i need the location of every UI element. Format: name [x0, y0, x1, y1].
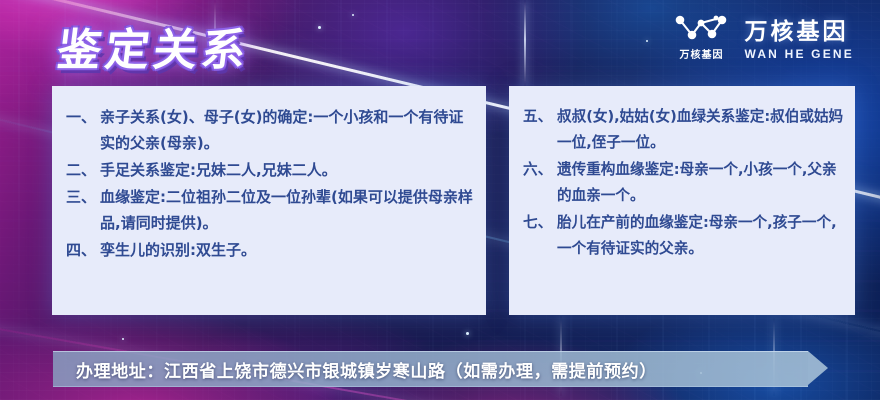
list-item-number: 七、 — [523, 210, 557, 262]
address-banner-text: 办理地址：江西省上饶市德兴市银城镇岁寒山路（如需办理，需提前预约） — [53, 357, 657, 382]
brand-logo-mark-label: 万核基因 — [679, 46, 723, 61]
list-item-number: 二、 — [66, 157, 100, 183]
brand-logo: 万核基因 万核基因 WAN HE GENE — [672, 12, 854, 61]
list-item-text: 胎儿在产前的血缘鉴定:母亲一个,孩子一个,一个有待证实的父亲。 — [557, 210, 845, 262]
dna-molecule-icon — [672, 13, 730, 43]
address-banner: 办理地址：江西省上饶市德兴市银城镇岁寒山路（如需办理，需提前预约） — [53, 351, 808, 387]
spark-icon — [122, 338, 124, 340]
list-item: 六、 遗传重构血缘鉴定:母亲一个,小孩一个,父亲的血亲一个。 — [523, 157, 845, 209]
list-item-text: 血缘鉴定:二位祖孙二位及一位孙辈(如果可以提供母亲样品,请同时提供)。 — [100, 184, 476, 236]
poster-canvas: 鉴定关系 万核基因 — [0, 0, 880, 400]
list-item-number: 六、 — [523, 157, 557, 209]
list-item-number: 一、 — [66, 104, 100, 156]
list-item: 五、 叔叔(女),姑姑(女)血绿关系鉴定:叔伯或姑妈一位,侄子一位。 — [523, 104, 845, 156]
list-item: 二、 手足关系鉴定:兄妹二人,兄妹二人。 — [66, 157, 476, 183]
list-item-number: 五、 — [523, 104, 557, 156]
list-item-text: 亲子关系(女)、母子(女)的确定:一个小孩和一个有待证实的父亲(母亲)。 — [100, 104, 476, 156]
brand-name-en: WAN HE GENE — [744, 47, 854, 61]
brand-wordmark: 万核基因 WAN HE GENE — [744, 12, 854, 61]
service-list-panel-right: 五、 叔叔(女),姑姑(女)血绿关系鉴定:叔伯或姑妈一位,侄子一位。 六、 遗传… — [509, 86, 855, 315]
list-item-number: 三、 — [66, 184, 100, 236]
list-item: 七、 胎儿在产前的血缘鉴定:母亲一个,孩子一个,一个有待证实的父亲。 — [523, 210, 845, 262]
vertical-beam-icon — [524, 0, 526, 88]
address-banner-arrow-icon — [808, 351, 828, 385]
list-item-text: 手足关系鉴定:兄妹二人,兄妹二人。 — [100, 157, 476, 183]
spark-icon — [466, 332, 469, 335]
list-item-text: 孪生儿的识别:双生子。 — [100, 237, 476, 263]
page-title: 鉴定关系 — [54, 14, 254, 78]
list-item: 四、 孪生儿的识别:双生子。 — [66, 237, 476, 263]
list-item-number: 四、 — [66, 237, 100, 263]
list-item-text: 遗传重构血缘鉴定:母亲一个,小孩一个,父亲的血亲一个。 — [557, 157, 845, 209]
spark-icon — [646, 40, 648, 42]
brand-name-cn: 万核基因 — [744, 12, 848, 46]
brand-logo-mark: 万核基因 — [672, 13, 730, 61]
spark-icon — [318, 26, 321, 29]
list-item: 三、 血缘鉴定:二位祖孙二位及一位孙辈(如果可以提供母亲样品,请同时提供)。 — [66, 184, 476, 236]
spark-icon — [352, 14, 354, 16]
list-item-text: 叔叔(女),姑姑(女)血绿关系鉴定:叔伯或姑妈一位,侄子一位。 — [557, 104, 845, 156]
list-item: 一、 亲子关系(女)、母子(女)的确定:一个小孩和一个有待证实的父亲(母亲)。 — [66, 104, 476, 156]
service-list-panel-left: 一、 亲子关系(女)、母子(女)的确定:一个小孩和一个有待证实的父亲(母亲)。 … — [52, 86, 486, 315]
